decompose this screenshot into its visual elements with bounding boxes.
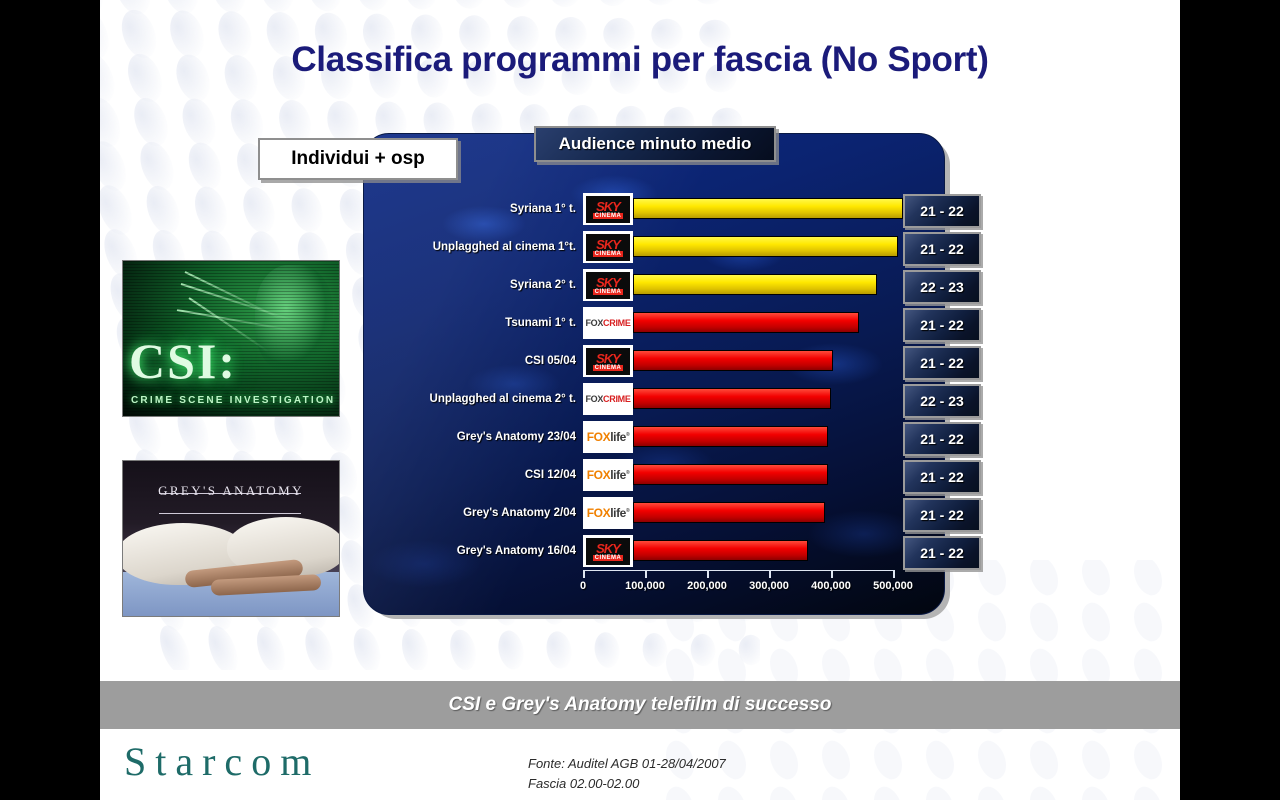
csi-poster: CSI: CRIME SCENE INVESTIGATION: [122, 260, 340, 417]
sky-cinema-logo: SKYCINEMA: [583, 231, 633, 263]
time-slot-badge: 21 - 22: [903, 422, 981, 456]
chart-row-label: Tsunami 1° t.: [346, 304, 583, 342]
source-line-1: Fonte: Auditel AGB 01-28/04/2007: [528, 754, 726, 774]
foxlife-logo: FOXlife®: [583, 421, 633, 453]
footer-band-text: CSI e Grey's Anatomy telefilm di success…: [449, 694, 832, 716]
axis-tick: [893, 571, 895, 578]
foxcrime-logo: FOXCRIME: [583, 383, 633, 415]
axis-tick: [769, 571, 771, 578]
csi-subtitle: CRIME SCENE INVESTIGATION: [131, 395, 335, 406]
chart-row-label: Unplagghed al cinema 2° t.: [346, 380, 583, 418]
chart-bar: [633, 236, 898, 257]
time-slot-badge: 21 - 22: [903, 232, 981, 266]
axis-tick-label: 300,000: [749, 580, 789, 592]
greys-title: GREY'S ANATOMY: [123, 483, 339, 499]
foxlife-logo: FOXlife®: [583, 459, 633, 491]
axis-tick-label: 100,000: [625, 580, 665, 592]
source-line-2: Fascia 02.00-02.00: [528, 774, 726, 794]
time-slot-badge: 21 - 22: [903, 536, 981, 570]
time-slot-badge: 21 - 22: [903, 346, 981, 380]
target-label-box: Individui + osp: [258, 138, 458, 180]
chart-plot-area: Syriana 1° t.SKYCINEMAUnplagghed al cine…: [583, 190, 893, 570]
chart-row: CSI 05/04SKYCINEMA: [583, 342, 893, 380]
chart-row: Grey's Anatomy 23/04FOXlife®: [583, 418, 893, 456]
chart-bar: [633, 350, 833, 371]
chart-bar: [633, 502, 825, 523]
chart-bar: [633, 274, 877, 295]
chart-row: Tsunami 1° t.FOXCRIME: [583, 304, 893, 342]
sky-cinema-logo: SKYCINEMA: [583, 193, 633, 225]
time-slot-badge: 21 - 22: [903, 460, 981, 494]
chart-row: Syriana 2° t.SKYCINEMA: [583, 266, 893, 304]
chart-row: Syriana 1° t.SKYCINEMA: [583, 190, 893, 228]
chart-x-axis: 0100,000200,000300,000400,000500,000: [583, 570, 895, 583]
time-slot-badge: 22 - 23: [903, 270, 981, 304]
chart-bar: [633, 464, 828, 485]
chart-bar: [633, 312, 859, 333]
chart-bar: [633, 388, 831, 409]
chart-row: CSI 12/04FOXlife®: [583, 456, 893, 494]
chart-row-label: Grey's Anatomy 2/04: [346, 494, 583, 532]
axis-tick: [831, 571, 833, 578]
chart-row-label: Grey's Anatomy 23/04: [346, 418, 583, 456]
metric-label-box: Audience minuto medio: [534, 126, 776, 162]
time-slot-badge: 22 - 23: [903, 384, 981, 418]
foxlife-logo: FOXlife®: [583, 497, 633, 529]
chart-row-label: CSI 12/04: [346, 456, 583, 494]
chart-row-label: Syriana 2° t.: [346, 266, 583, 304]
page-title: Classifica programmi per fascia (No Spor…: [100, 40, 1180, 80]
chart-row: Grey's Anatomy 16/04SKYCINEMA: [583, 532, 893, 570]
time-slot-badge: 21 - 22: [903, 498, 981, 532]
greys-rule-bottom: [159, 513, 301, 514]
axis-tick-label: 500,000: [873, 580, 913, 592]
axis-tick-label: 200,000: [687, 580, 727, 592]
axis-tick-label: 0: [580, 580, 586, 592]
slide-canvas: Classifica programmi per fascia (No Spor…: [0, 0, 1280, 800]
axis-tick-label: 400,000: [811, 580, 851, 592]
sky-cinema-logo: SKYCINEMA: [583, 345, 633, 377]
chart-bar: [633, 198, 903, 219]
axis-tick: [707, 571, 709, 578]
source-note: Fonte: Auditel AGB 01-28/04/2007 Fascia …: [528, 754, 726, 794]
csi-title: CSI:: [129, 332, 237, 390]
chart-row: Unplagghed al cinema 2° t.FOXCRIME: [583, 380, 893, 418]
chart-row-label: Grey's Anatomy 16/04: [346, 532, 583, 570]
sky-cinema-logo: SKYCINEMA: [583, 535, 633, 567]
chart-row-label: Syriana 1° t.: [346, 190, 583, 228]
chart-bar: [633, 426, 828, 447]
chart-row: Grey's Anatomy 2/04FOXlife®: [583, 494, 893, 532]
sky-cinema-logo: SKYCINEMA: [583, 269, 633, 301]
starcom-logo: Starcom: [124, 738, 320, 785]
time-slot-badge: 21 - 22: [903, 194, 981, 228]
chart-row-label: CSI 05/04: [346, 342, 583, 380]
chart-row-label: Unplagghed al cinema 1°t.: [346, 228, 583, 266]
chart-bar: [633, 540, 808, 561]
foxcrime-logo: FOXCRIME: [583, 307, 633, 339]
axis-tick: [583, 571, 585, 578]
greys-poster: GREY'S ANATOMY: [122, 460, 340, 617]
chart-row: Unplagghed al cinema 1°t.SKYCINEMA: [583, 228, 893, 266]
footer-band: CSI e Grey's Anatomy telefilm di success…: [100, 681, 1180, 729]
time-slot-badge: 21 - 22: [903, 308, 981, 342]
axis-tick: [645, 571, 647, 578]
